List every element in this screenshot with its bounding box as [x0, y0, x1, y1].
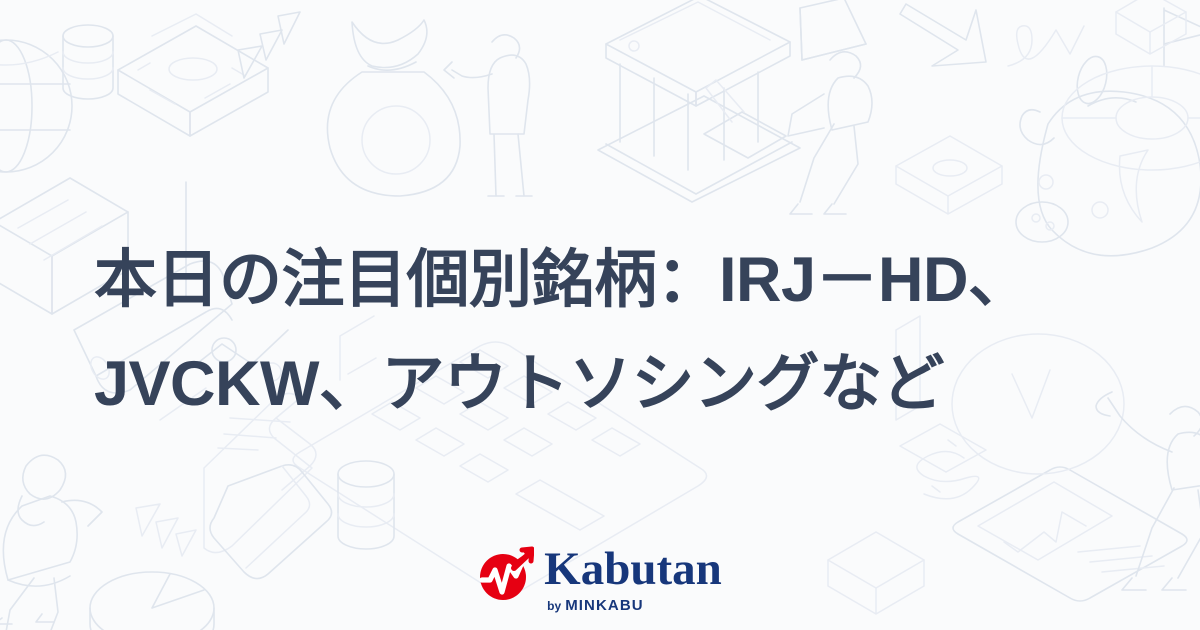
pie-chart-icon — [1062, 66, 1200, 170]
pyramid-icon — [800, 0, 866, 60]
flag-icon — [1164, 8, 1200, 66]
logo-wordmark: Kabutan — [544, 546, 722, 593]
person-laptop-icon — [704, 52, 872, 214]
og-card: 本日の注目個別銘柄：IRJ－HD、 JVCKW、アウトソシングなど Kabuta… — [0, 0, 1200, 630]
logo-subtitle: by MINKABU — [547, 597, 644, 614]
dollar-sign-icon — [917, 440, 979, 499]
coin-stack-icon — [63, 25, 113, 99]
line-chart-icon — [1008, 26, 1084, 66]
logo-text-group: Kabutan by MINKABU — [544, 544, 722, 614]
kabutan-arrow-chart-icon — [478, 546, 534, 602]
money-bag-icon — [327, 20, 460, 196]
arrow-down-right-icon — [900, 4, 986, 66]
banknote-icon — [896, 136, 1002, 214]
page-title: 本日の注目個別銘柄：IRJ－HD、 JVCKW、アウトソシングなど — [94, 228, 1118, 436]
piggy-bank-icon — [1016, 53, 1200, 255]
kabutan-logo: Kabutan by MINKABU — [0, 544, 1200, 616]
logo-by-label: by — [547, 599, 561, 613]
bank-building-icon — [598, 0, 800, 202]
coin-stack-icon — [338, 461, 394, 549]
banknote-icon — [118, 14, 268, 136]
triangle-cursor-icon — [238, 12, 300, 78]
isometric-block-icon — [1116, 0, 1186, 54]
person-presenting-icon — [444, 35, 532, 196]
globe-icon — [0, 40, 72, 172]
logo-parent-brand: MINKABU — [565, 597, 644, 614]
